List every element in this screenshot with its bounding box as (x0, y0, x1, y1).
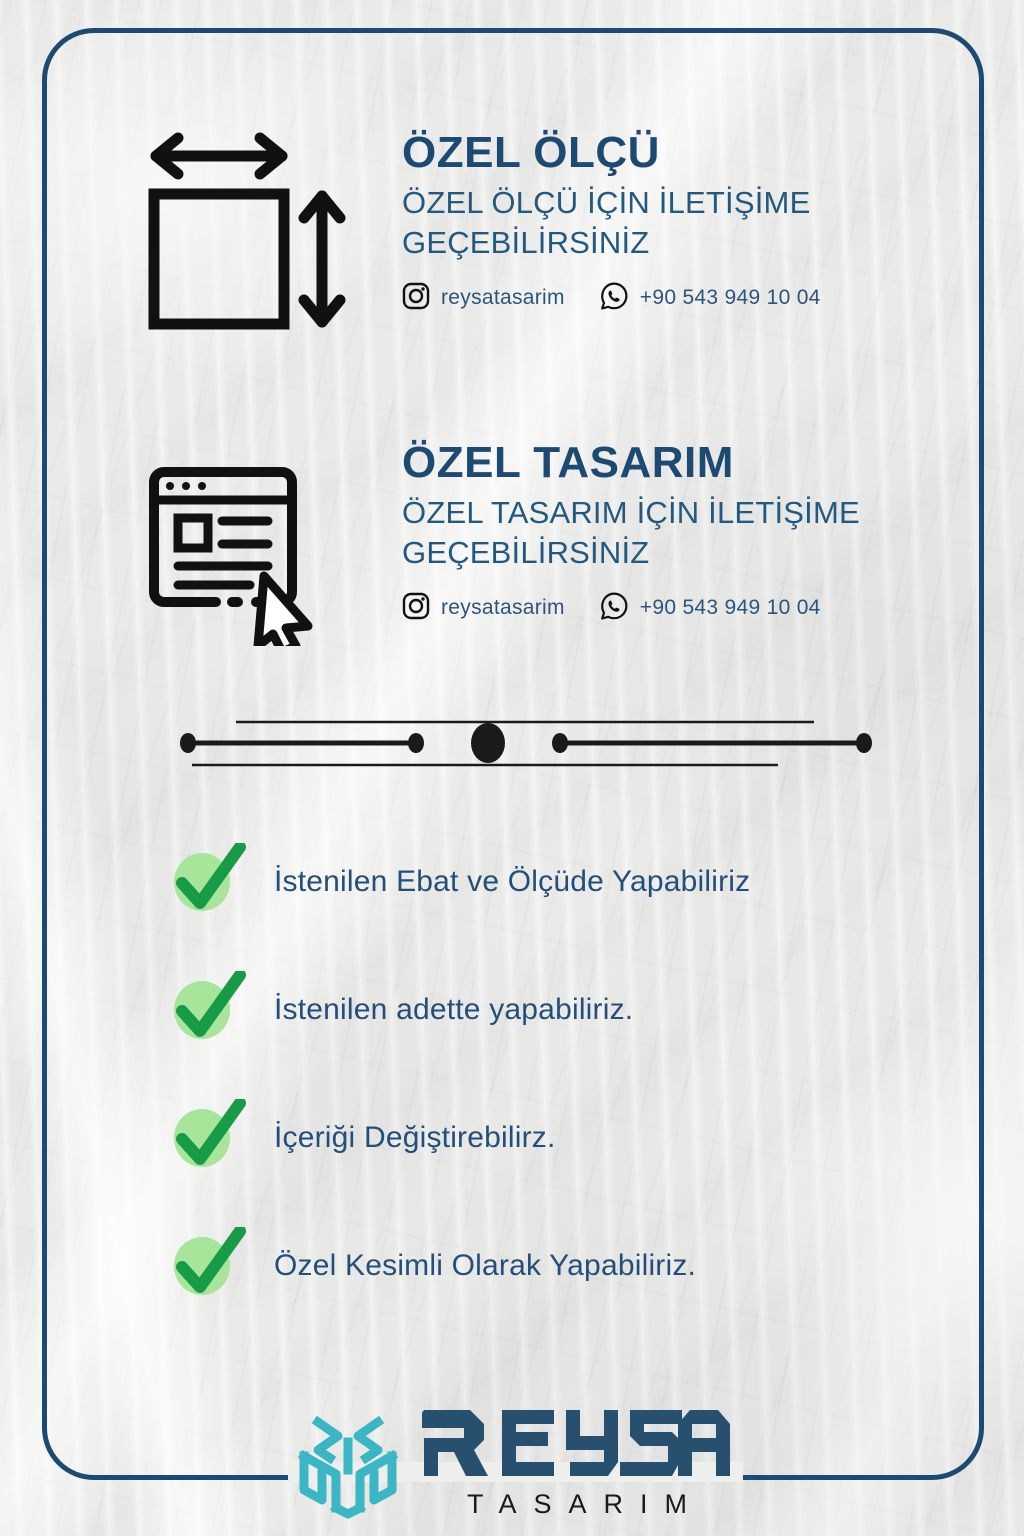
list-item-label: İstenilen Ebat ve Ölçüde Yapabiliriz (274, 865, 750, 899)
green-check-icon (170, 1233, 236, 1299)
green-check-icon (170, 849, 236, 915)
list-item-label: Özel Kesimli Olarak Yapabiliriz. (274, 1249, 696, 1283)
feature-subtitle-line1: ÖZEL ÖLÇÜ İÇİN İLETİŞİME (402, 183, 821, 223)
feature-subtitle: ÖZEL ÖLÇÜ İÇİN İLETİŞİME GEÇEBİLİRSİNİZ (402, 183, 821, 262)
contact-whatsapp[interactable]: +90 543 949 10 04 (599, 591, 821, 626)
list-item: İçeriği Değiştirebilirz. (170, 1094, 950, 1182)
feature-subtitle-line2: GEÇEBİLİRSİNİZ (402, 223, 821, 263)
whatsapp-icon (599, 281, 629, 316)
green-check-icon (170, 1105, 236, 1171)
contact-row: reysatasarim +90 543 949 10 04 (402, 281, 821, 316)
feature-text-custom-design: ÖZEL TASARIM ÖZEL TASARIM İÇİN İLETİŞİME… (402, 440, 860, 626)
list-item-label: İstenilen adette yapabiliriz. (274, 993, 633, 1027)
list-item-label: İçeriği Değiştirebilirz. (274, 1121, 556, 1155)
contact-instagram-label: reysatasarim (441, 596, 565, 620)
contact-instagram-label: reysatasarim (441, 286, 565, 310)
brand-logo: TASARIM (296, 1408, 732, 1529)
instagram-icon (402, 592, 430, 625)
list-item: Özel Kesimli Olarak Yapabiliriz. (170, 1222, 950, 1310)
whatsapp-icon (599, 591, 629, 626)
contact-whatsapp-label: +90 543 949 10 04 (640, 596, 821, 620)
feature-title: ÖZEL ÖLÇÜ (402, 130, 821, 176)
feature-block-custom-design: ÖZEL TASARIM ÖZEL TASARIM İÇİN İLETİŞİME… (132, 440, 860, 651)
feature-text-custom-size: ÖZEL ÖLÇÜ ÖZEL ÖLÇÜ İÇİN İLETİŞİME GEÇEB… (402, 130, 821, 316)
contact-instagram[interactable]: reysatasarim (402, 282, 565, 315)
feature-bullet-list: İstenilen Ebat ve Ölçüde Yapabiliriz İst… (170, 838, 950, 1310)
instagram-icon (402, 282, 430, 315)
feature-subtitle: ÖZEL TASARIM İÇİN İLETİŞİME GEÇEBİLİRSİN… (402, 493, 860, 572)
custom-design-icon (132, 456, 332, 651)
reysa-cube-logo-icon (296, 1412, 400, 1529)
feature-block-custom-size: ÖZEL ÖLÇÜ ÖZEL ÖLÇÜ İÇİN İLETİŞİME GEÇEB… (132, 126, 821, 357)
logo-tagline: TASARIM (422, 1489, 732, 1520)
contact-instagram[interactable]: reysatasarim (402, 592, 565, 625)
feature-subtitle-line2: GEÇEBİLİRSİNİZ (402, 533, 860, 573)
contact-row: reysatasarim +90 543 949 10 04 (402, 591, 860, 626)
contact-whatsapp-label: +90 543 949 10 04 (640, 286, 821, 310)
reysa-wordmark (422, 1465, 732, 1482)
list-item: İstenilen adette yapabiliriz. (170, 966, 950, 1054)
feature-subtitle-line1: ÖZEL TASARIM İÇİN İLETİŞİME (402, 493, 860, 533)
contact-whatsapp[interactable]: +90 543 949 10 04 (599, 281, 821, 316)
green-check-icon (170, 977, 236, 1043)
list-item: İstenilen Ebat ve Ölçüde Yapabiliriz (170, 838, 950, 926)
ornamental-divider (178, 712, 874, 774)
logo-wordmark-group: TASARIM (422, 1408, 732, 1520)
feature-title: ÖZEL TASARIM (402, 440, 860, 486)
custom-size-icon (132, 126, 354, 357)
poster-content: ÖZEL ÖLÇÜ ÖZEL ÖLÇÜ İÇİN İLETİŞİME GEÇEB… (0, 0, 1024, 1536)
